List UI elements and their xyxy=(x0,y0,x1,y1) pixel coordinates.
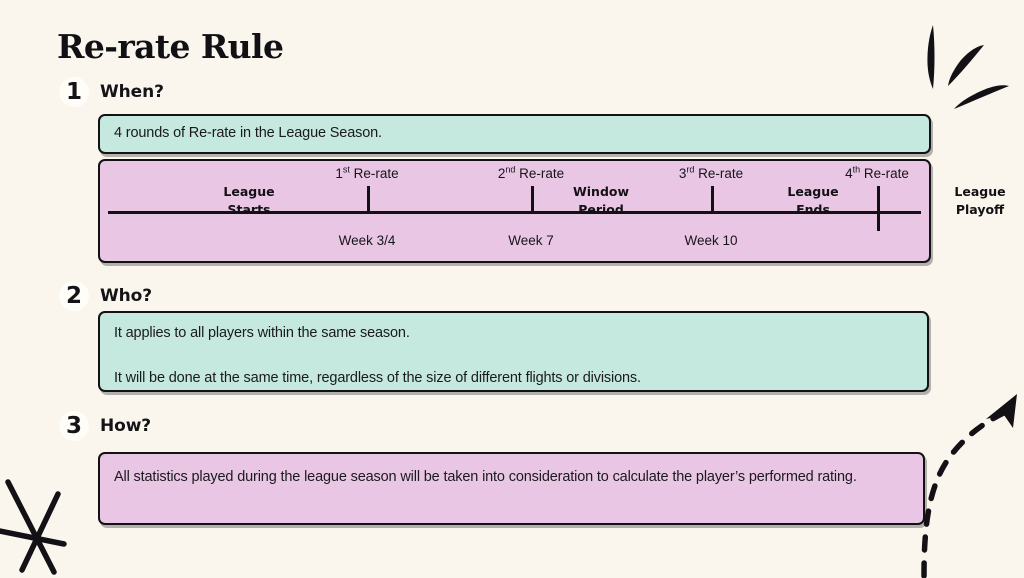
timeline-stage-league-ends: League Ends xyxy=(787,161,838,190)
page-title: Re-rate Rule xyxy=(57,27,283,66)
section-label-who: Who? xyxy=(100,286,152,306)
when-statement-text: 4 rounds of Re-rate in the League Season… xyxy=(114,124,382,144)
who-paragraph-2: It will be done at the same time, regard… xyxy=(114,369,913,389)
timeline-marker-label-1: 1st Re-rate xyxy=(335,166,398,181)
timeline-tick-4 xyxy=(877,186,880,231)
section-heading-who: 2 Who? xyxy=(59,281,152,311)
section-label-how: How? xyxy=(100,416,151,436)
section-heading-when: 1 When? xyxy=(59,77,164,107)
dashed-curved-arrow-icon xyxy=(918,388,1024,578)
timeline-marker-label-4: 4th Re-rate xyxy=(845,166,909,181)
who-statement-panel: It applies to all players within the sam… xyxy=(98,311,929,392)
when-statement-panel: 4 rounds of Re-rate in the League Season… xyxy=(98,114,931,154)
section-number-badge-3: 3 xyxy=(59,411,89,441)
timeline-tick-1 xyxy=(367,186,370,214)
section-number-badge-1: 1 xyxy=(59,77,89,107)
timeline-stage-league-playoff: League Playoff xyxy=(954,161,1005,190)
section-label-when: When? xyxy=(100,82,164,102)
who-paragraph-1: It applies to all players within the sam… xyxy=(114,324,913,344)
timeline-marker-week-1: Week 3/4 xyxy=(339,233,396,248)
how-paragraph-1: All statistics played during the league … xyxy=(114,466,907,488)
timeline-panel: League Starts Window Period League Ends … xyxy=(98,159,931,263)
sparkle-burst-icon xyxy=(900,12,1024,128)
section-heading-how: 3 How? xyxy=(59,411,151,441)
how-statement-panel: All statistics played during the league … xyxy=(98,452,925,525)
asterisk-star-icon xyxy=(0,452,104,576)
timeline-tick-3 xyxy=(711,186,714,214)
section-number-badge-2: 2 xyxy=(59,281,89,311)
timeline-tick-2 xyxy=(531,186,534,214)
timeline-stage-window-period: Window Period xyxy=(573,161,629,190)
timeline-diagram: League Starts Window Period League Ends … xyxy=(100,161,929,261)
timeline-marker-label-2: 2nd Re-rate xyxy=(498,166,564,181)
timeline-marker-label-3: 3rd Re-rate xyxy=(679,166,743,181)
timeline-marker-week-2: Week 7 xyxy=(508,233,554,248)
timeline-stage-league-starts: League Starts xyxy=(223,161,274,190)
slide-canvas: Re-rate Rule 1 When? 4 rounds of Re-rate… xyxy=(0,0,1024,576)
timeline-marker-week-3: Week 10 xyxy=(684,233,737,248)
